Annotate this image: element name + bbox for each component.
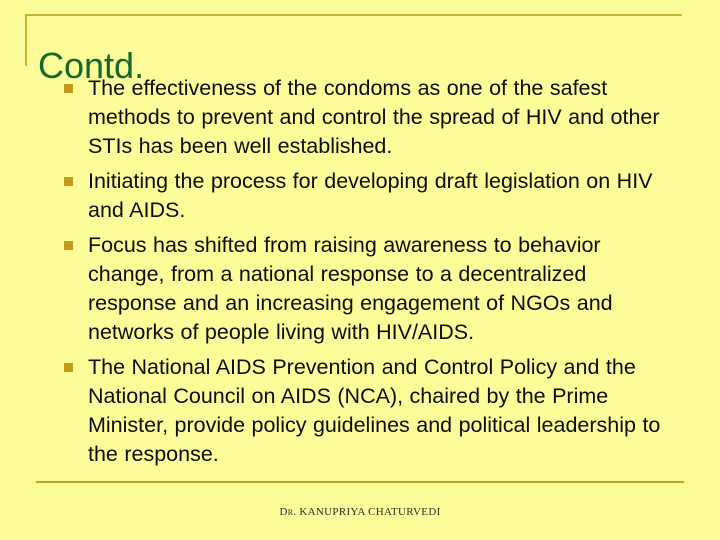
list-item-text: Initiating the process for developing dr…	[88, 167, 680, 225]
list-item-text: Focus has shifted from raising awareness…	[88, 231, 680, 347]
title-left-rule	[25, 14, 27, 66]
square-bullet-icon	[64, 177, 73, 186]
list-item: Focus has shifted from raising awareness…	[60, 231, 680, 347]
list-item: The National AIDS Prevention and Control…	[60, 353, 680, 469]
square-bullet-icon	[64, 363, 73, 372]
title-top-rule	[25, 14, 682, 16]
footer-credit: Dr. KANUPRIYA CHATURVEDI	[0, 506, 720, 518]
list-item-text: The National AIDS Prevention and Control…	[88, 353, 680, 469]
bullet-list: The effectiveness of the condoms as one …	[60, 74, 680, 469]
square-bullet-icon	[64, 241, 73, 250]
square-bullet-icon	[64, 84, 73, 93]
presentation-slide: Contd. The effectiveness of the condoms …	[0, 0, 720, 540]
footer-rule	[36, 481, 684, 483]
list-item: Initiating the process for developing dr…	[60, 167, 680, 225]
list-item: The effectiveness of the condoms as one …	[60, 74, 680, 161]
list-item-text: The effectiveness of the condoms as one …	[88, 74, 680, 161]
